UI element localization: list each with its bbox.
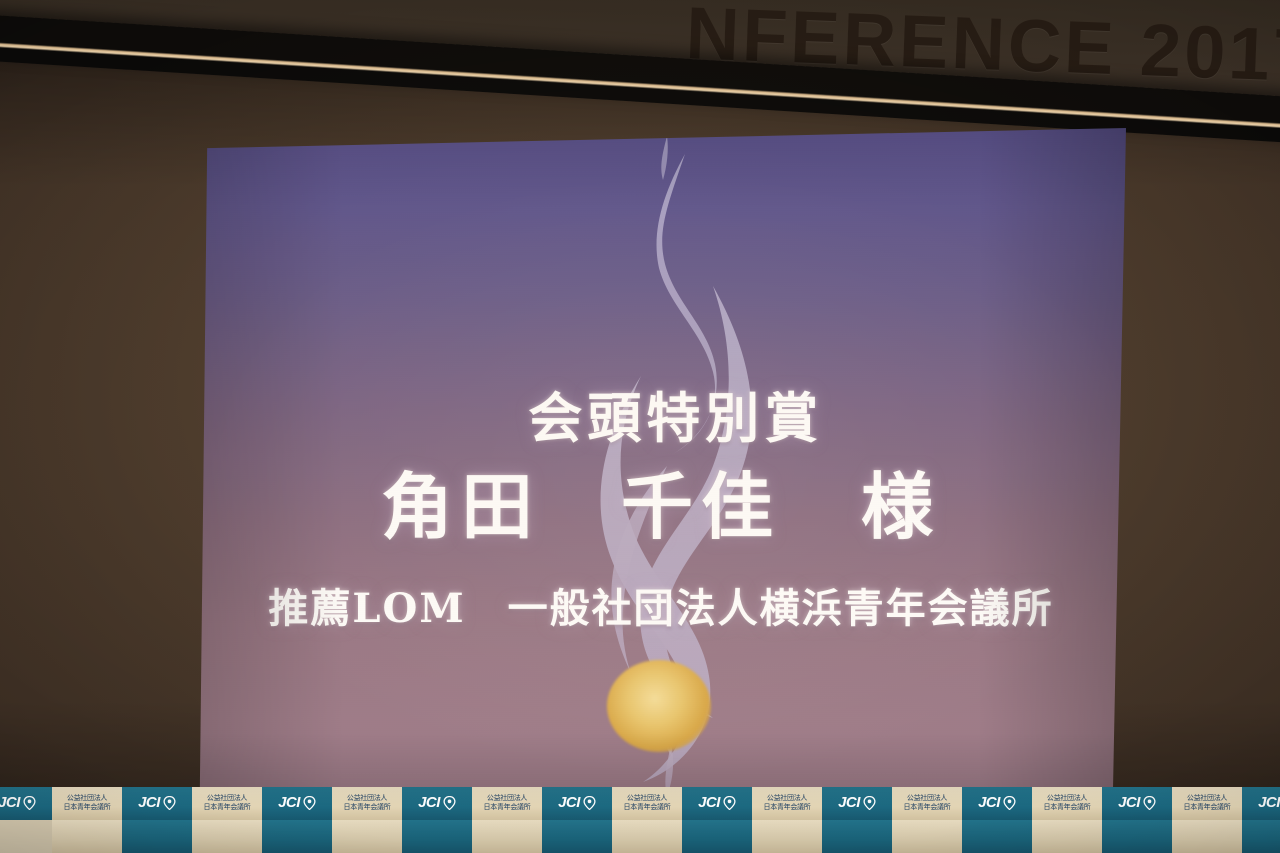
jci-logo: JCI xyxy=(1118,795,1156,810)
jci-org-line-2: 日本青年会議所 xyxy=(904,803,951,811)
backdrop-cell-logo: JCI xyxy=(122,787,192,820)
backdrop-cell-logo: JCI xyxy=(262,787,332,820)
jci-org-name: 公益社団法人日本青年会議所 xyxy=(764,794,811,810)
backdrop-cell-org: 公益社団法人日本青年会議所 xyxy=(1032,787,1102,820)
backdrop-cell-logo: JCI xyxy=(682,787,752,820)
projection-screen: 会頭特別賞 角田 千佳 様 推薦LOM 一般社団法人横浜青年会議所 xyxy=(196,128,1126,800)
jci-wordmark: JCI xyxy=(138,795,160,810)
backdrop-cell-logo: JCI xyxy=(822,787,892,820)
jci-pin-icon xyxy=(1003,796,1016,810)
recommending-lom-line: 推薦LOM 一般社団法人横浜青年会議所 xyxy=(268,576,1053,634)
jci-org-name: 公益社団法人日本青年会議所 xyxy=(1044,794,1091,810)
jci-org-name: 公益社団法人日本青年会議所 xyxy=(64,794,111,810)
jci-org-line-1: 公益社団法人 xyxy=(1184,794,1231,802)
jci-org-line-2: 日本青年会議所 xyxy=(1044,803,1091,811)
jci-wordmark: JCI xyxy=(698,795,720,810)
jci-logo: JCI xyxy=(418,795,456,810)
jci-logo: JCI xyxy=(1258,795,1280,810)
jci-org-name: 公益社団法人日本青年会議所 xyxy=(484,794,531,810)
jci-org-line-2: 日本青年会議所 xyxy=(764,803,811,811)
backdrop-cell-blank xyxy=(892,820,962,853)
jci-step-and-repeat-backdrop: JCI公益社団法人日本青年会議所JCI公益社団法人日本青年会議所JCI公益社団法… xyxy=(0,787,1280,853)
jci-org-line-2: 日本青年会議所 xyxy=(484,803,531,811)
backdrop-cell-blank xyxy=(52,820,122,853)
backdrop-cell-blank xyxy=(1102,820,1172,853)
jci-pin-icon xyxy=(163,796,176,810)
jci-wordmark: JCI xyxy=(1118,795,1140,810)
backdrop-cell-org: 公益社団法人日本青年会議所 xyxy=(1172,787,1242,820)
backdrop-cell-org: 公益社団法人日本青年会議所 xyxy=(192,787,262,820)
slide-text-block: 会頭特別賞 角田 千佳 様 推薦LOM 一般社団法人横浜青年会議所 xyxy=(196,128,1126,800)
jci-org-line-2: 日本青年会議所 xyxy=(204,803,251,811)
jci-org-line-1: 公益社団法人 xyxy=(204,794,251,802)
jci-org-name: 公益社団法人日本青年会議所 xyxy=(204,794,251,810)
jci-pin-icon xyxy=(303,796,316,810)
jci-pin-icon xyxy=(443,796,456,810)
backdrop-cell-org: 公益社団法人日本青年会議所 xyxy=(472,787,542,820)
jci-logo: JCI xyxy=(278,795,316,810)
backdrop-cell-blank xyxy=(822,820,892,853)
jci-logo: JCI xyxy=(558,795,596,810)
jci-org-line-1: 公益社団法人 xyxy=(484,794,531,802)
jci-pin-icon xyxy=(1143,796,1156,810)
jci-logo: JCI xyxy=(978,795,1016,810)
backdrop-cell-logo: JCI xyxy=(962,787,1032,820)
jci-org-line-1: 公益社団法人 xyxy=(624,794,671,802)
jci-org-line-1: 公益社団法人 xyxy=(1044,794,1091,802)
jci-wordmark: JCI xyxy=(1258,795,1280,810)
backdrop-cell-logo: JCI xyxy=(1242,787,1280,820)
award-title: 会頭特別賞 xyxy=(528,374,823,453)
jci-org-line-2: 日本青年会議所 xyxy=(624,803,671,811)
backdrop-cell-blank xyxy=(612,820,682,853)
jci-wordmark: JCI xyxy=(558,795,580,810)
backdrop-cell-org: 公益社団法人日本青年会議所 xyxy=(52,787,122,820)
backdrop-row-top: JCI公益社団法人日本青年会議所JCI公益社団法人日本青年会議所JCI公益社団法… xyxy=(0,787,1280,820)
jci-org-name: 公益社団法人日本青年会議所 xyxy=(1184,794,1231,810)
backdrop-cell-blank xyxy=(122,820,192,853)
backdrop-cell-blank xyxy=(1242,820,1280,853)
screenshot-root: NFERENCE 2017 xyxy=(0,0,1280,853)
jci-org-line-1: 公益社団法人 xyxy=(344,794,391,802)
backdrop-cell-blank xyxy=(332,820,402,853)
backdrop-cell-logo: JCI xyxy=(1102,787,1172,820)
jci-logo: JCI xyxy=(0,795,36,810)
jci-org-line-1: 公益社団法人 xyxy=(64,794,111,802)
backdrop-cell-blank xyxy=(1032,820,1102,853)
backdrop-cell-blank xyxy=(752,820,822,853)
jci-wordmark: JCI xyxy=(978,795,1000,810)
jci-pin-icon xyxy=(583,796,596,810)
backdrop-cell-org: 公益社団法人日本青年会議所 xyxy=(752,787,822,820)
recipient-name: 角田 千佳 様 xyxy=(381,448,941,553)
jci-org-name: 公益社団法人日本青年会議所 xyxy=(344,794,391,810)
jci-pin-icon xyxy=(23,796,36,810)
jci-logo: JCI xyxy=(838,795,876,810)
jci-wordmark: JCI xyxy=(278,795,300,810)
backdrop-cell-blank xyxy=(682,820,752,853)
backdrop-cell-org: 公益社団法人日本青年会議所 xyxy=(612,787,682,820)
backdrop-cell-logo: JCI xyxy=(542,787,612,820)
backdrop-cell-org: 公益社団法人日本青年会議所 xyxy=(332,787,402,820)
jci-wordmark: JCI xyxy=(418,795,440,810)
jci-org-line-2: 日本青年会議所 xyxy=(344,803,391,811)
backdrop-cell-blank xyxy=(262,820,332,853)
backdrop-cell-org: 公益社団法人日本青年会議所 xyxy=(892,787,962,820)
backdrop-row-bottom xyxy=(52,820,1280,853)
backdrop-cell-blank xyxy=(1172,820,1242,853)
backdrop-cell-blank xyxy=(192,820,262,853)
backdrop-cell-blank xyxy=(472,820,542,853)
jci-org-line-1: 公益社団法人 xyxy=(764,794,811,802)
jci-org-line-2: 日本青年会議所 xyxy=(1184,803,1231,811)
backdrop-cell-blank xyxy=(542,820,612,853)
jci-logo: JCI xyxy=(138,795,176,810)
backdrop-cell-blank xyxy=(962,820,1032,853)
backdrop-cell-blank xyxy=(402,820,472,853)
jci-wordmark: JCI xyxy=(838,795,860,810)
jci-org-line-1: 公益社団法人 xyxy=(904,794,951,802)
jci-org-name: 公益社団法人日本青年会議所 xyxy=(904,794,951,810)
jci-org-line-2: 日本青年会議所 xyxy=(64,803,111,811)
jci-pin-icon xyxy=(723,796,736,810)
backdrop-cell-logo: JCI xyxy=(0,787,52,820)
jci-org-name: 公益社団法人日本青年会議所 xyxy=(624,794,671,810)
jci-pin-icon xyxy=(863,796,876,810)
jci-wordmark: JCI xyxy=(0,795,20,810)
jci-logo: JCI xyxy=(698,795,736,810)
backdrop-cell-logo: JCI xyxy=(402,787,472,820)
